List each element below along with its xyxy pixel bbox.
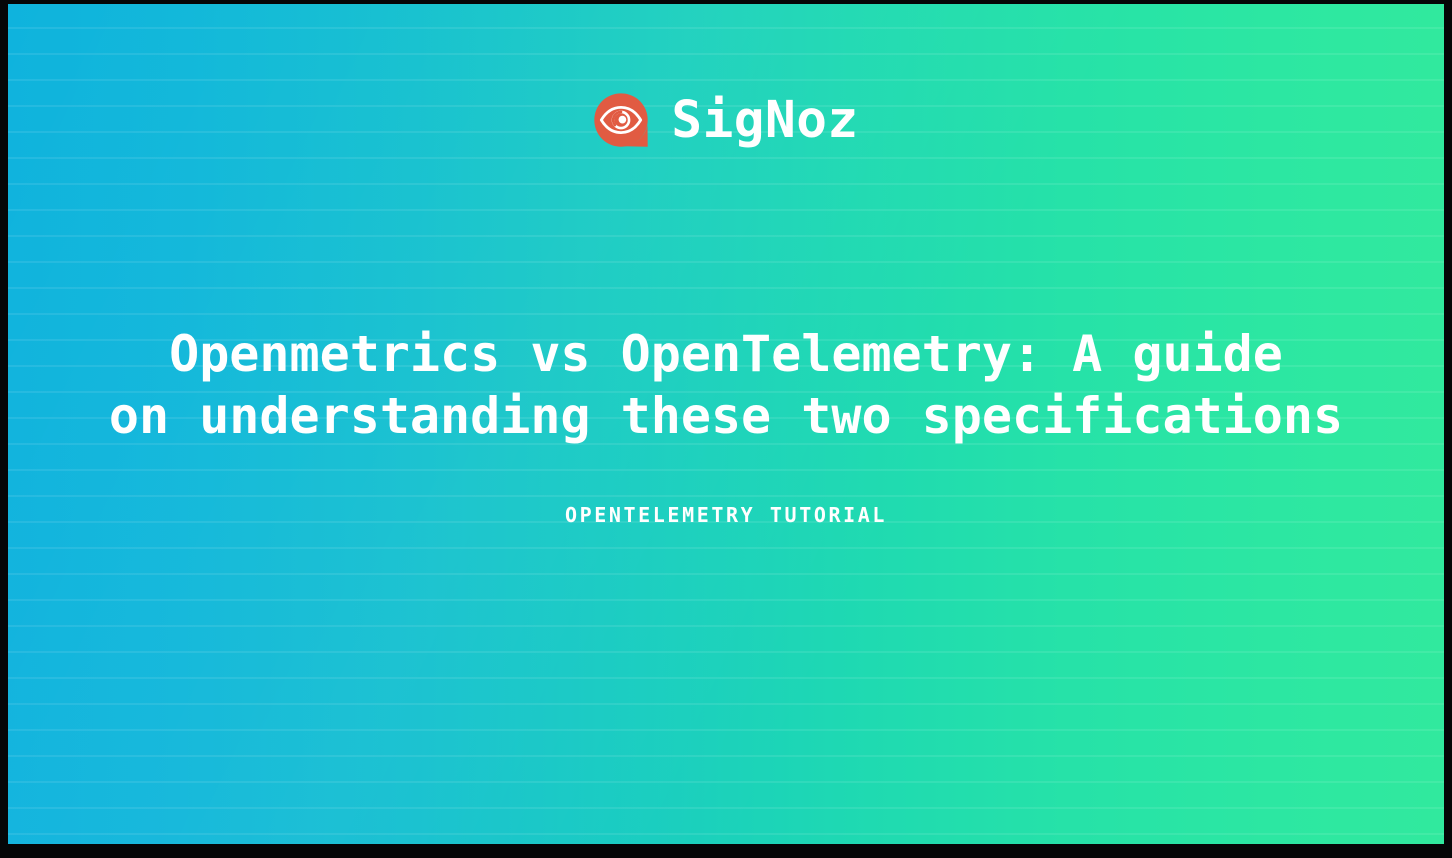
signoz-eye-logo-icon (593, 92, 649, 148)
cover-content: SigNoz Openmetrics vs OpenTelemetry: A g… (8, 4, 1444, 844)
brand-lockup[interactable]: SigNoz (593, 92, 858, 148)
page-title-line-1: Openmetrics vs OpenTelemetry: A guide (91, 323, 1361, 385)
brand-name-text: SigNoz (671, 95, 858, 146)
category-label[interactable]: OPENTELEMETRY TUTORIAL (565, 503, 887, 527)
blog-cover-card: SigNoz Openmetrics vs OpenTelemetry: A g… (0, 0, 1452, 858)
gradient-background: SigNoz Openmetrics vs OpenTelemetry: A g… (8, 4, 1444, 844)
page-title: Openmetrics vs OpenTelemetry: A guide on… (91, 323, 1361, 447)
page-title-line-2: on understanding these two specification… (91, 385, 1361, 447)
